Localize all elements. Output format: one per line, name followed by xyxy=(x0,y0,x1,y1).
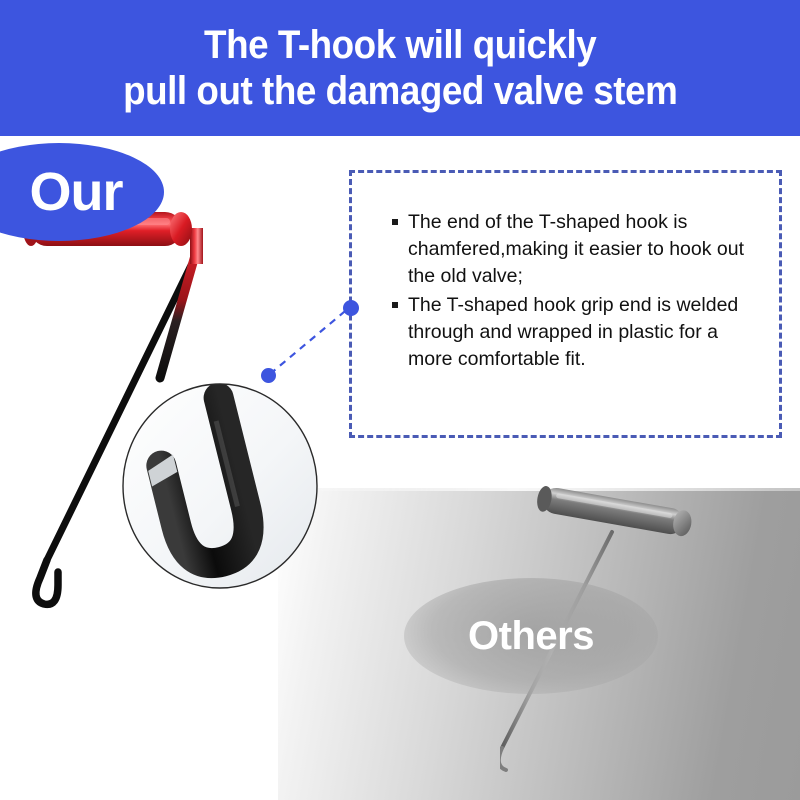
list-item: The T-shaped hook grip end is welded thr… xyxy=(392,292,763,373)
list-item: The end of the T-shaped hook is chamfere… xyxy=(392,209,763,290)
banner-line-1: The T-hook will quickly xyxy=(204,22,596,68)
callout-dot-source xyxy=(261,368,276,383)
badge-others-label: Others xyxy=(468,614,594,659)
our-hook-stem xyxy=(190,228,203,264)
header-banner: The T-hook will quickly pull out the dam… xyxy=(0,0,800,136)
badge-ours-label: Our xyxy=(0,161,123,223)
our-hook-tip xyxy=(36,560,58,604)
others-hook-grip xyxy=(535,485,693,538)
infographic-canvas: The T-hook will quickly pull out the dam… xyxy=(0,0,800,800)
others-hook-tip xyxy=(500,748,506,770)
badge-others: Others xyxy=(404,578,658,694)
feature-bullet-text: The T-shaped hook grip end is welded thr… xyxy=(408,294,738,370)
callout-dot-target xyxy=(343,300,359,316)
bullet-square-icon xyxy=(392,219,398,225)
banner-line-2: pull out the damaged valve stem xyxy=(123,68,677,114)
feature-callout-box: The end of the T-shaped hook is chamfere… xyxy=(349,170,782,438)
bullet-square-icon xyxy=(392,302,398,308)
magnifier-callout xyxy=(120,382,320,590)
feature-bullet-text: The end of the T-shaped hook is chamfere… xyxy=(408,211,744,287)
feature-bullet-list: The end of the T-shaped hook is chamfere… xyxy=(352,173,779,373)
